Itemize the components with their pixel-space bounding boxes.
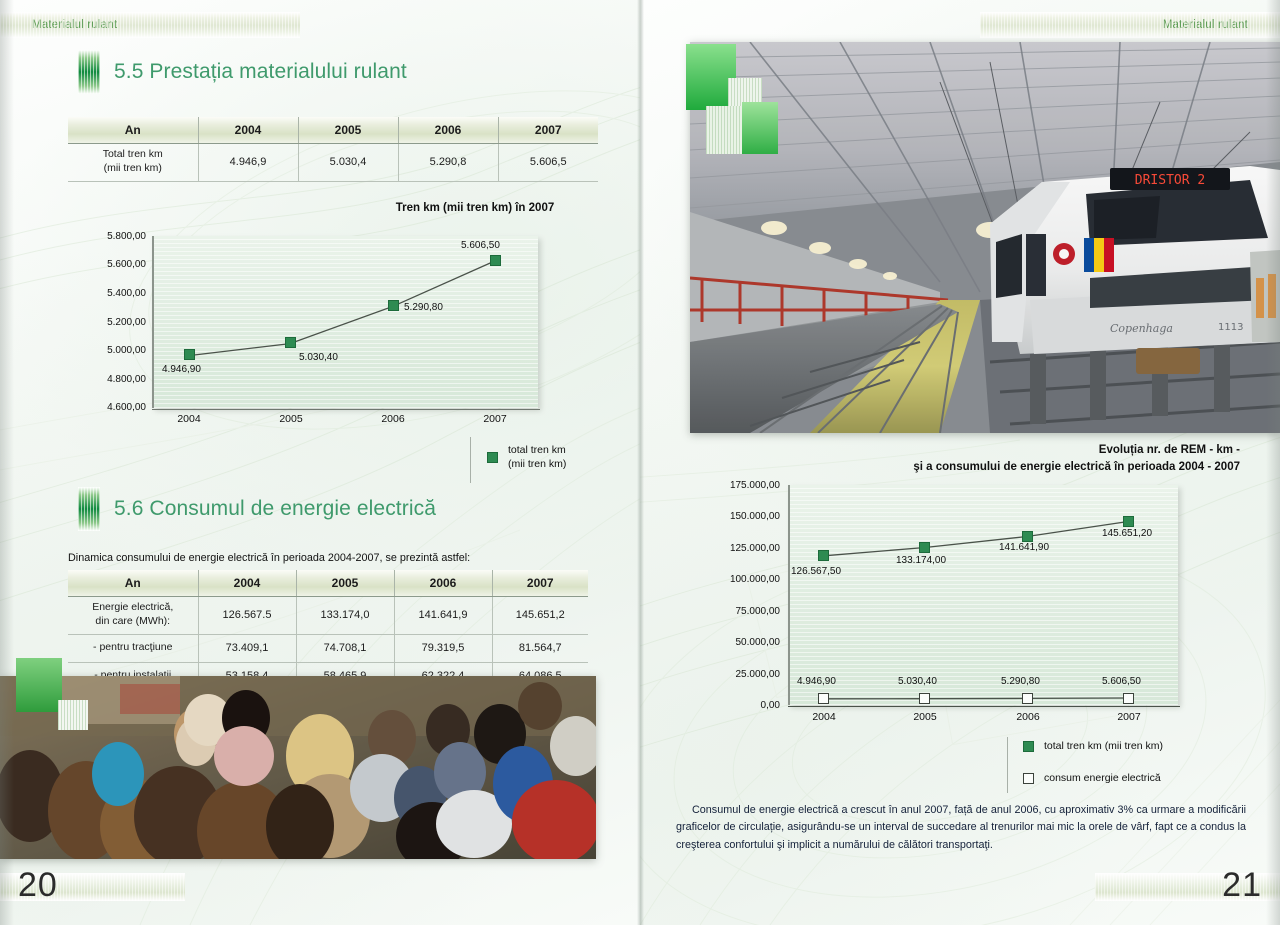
chart-rem-km-trenkm-datalabel-2007: 5.606,50 bbox=[1102, 676, 1141, 687]
ytick-5800: 5.800,00 bbox=[80, 231, 146, 242]
cell-row-label-line2: (mii tren km) bbox=[68, 162, 198, 176]
chart-rem-km-x-axis bbox=[788, 706, 1180, 707]
page-number-left: 20 bbox=[18, 866, 58, 905]
cell-2005: 5.030,4 bbox=[298, 143, 398, 181]
xtick-2005: 2005 bbox=[261, 413, 321, 425]
chart-tren-km-datalabel-2007: 5.606,50 bbox=[461, 240, 500, 251]
cell-row-label-line1: Energie electrică, bbox=[68, 601, 198, 615]
chart-rem-km-trenkm-datalabel-2004: 4.946,90 bbox=[797, 676, 836, 687]
xtick-2007: 2007 bbox=[465, 413, 525, 425]
chart-tren-km-x-axis bbox=[152, 409, 540, 410]
spread-gutter bbox=[637, 0, 644, 925]
cell-2004: 73.409,1 bbox=[198, 634, 296, 662]
chart-rem-km-trenkm-marker-2005 bbox=[919, 693, 930, 704]
cell-2007: 5.606,5 bbox=[498, 143, 598, 181]
chart-rem-km-energy-marker-2004 bbox=[818, 550, 829, 561]
ytick-4600: 4.600,00 bbox=[80, 402, 146, 413]
ytick-5200: 5.200,00 bbox=[80, 317, 146, 328]
section-heading-56: 5.6 Consumul de energie electrică bbox=[78, 487, 436, 531]
table-row: - pentru tracţiune 73.409,1 74.708,1 79.… bbox=[68, 634, 588, 662]
chart-rem-km-energy-datalabel-2006: 141.641,90 bbox=[999, 542, 1049, 553]
chart-rem-km-energy-datalabel-2007: 145.651,20 bbox=[1102, 528, 1152, 539]
cell-row-label-line1: Total tren km bbox=[68, 148, 198, 162]
chart-rem-km-title-line2: şi a consumului de energie electrică în … bbox=[900, 459, 1240, 476]
page-left: Materialul rulant 5.5 Prestația material… bbox=[0, 0, 640, 925]
xtick-2007: 2007 bbox=[1099, 711, 1159, 723]
ytick-50000: 50.000,00 bbox=[696, 637, 780, 648]
ytick-5400: 5.400,00 bbox=[80, 288, 146, 299]
cell-2005: 74.708,1 bbox=[296, 634, 394, 662]
chart-tren-km-datalabel-2004: 4.946,90 bbox=[162, 364, 201, 375]
chart-rem-km-energy-marker-2007 bbox=[1123, 516, 1134, 527]
page-edge-shadow-left bbox=[0, 0, 14, 925]
table-tren-km-head: An 2004 2005 2006 2007 bbox=[68, 117, 598, 143]
running-head-right: Materialul rulant bbox=[980, 12, 1280, 38]
table-row-header: An 2004 2005 2006 2007 bbox=[68, 117, 598, 143]
xtick-2006: 2006 bbox=[363, 413, 423, 425]
cell-row-label: Total tren km (mii tren km) bbox=[68, 143, 198, 181]
chart-rem-km-energy-datalabel-2005: 133.174,00 bbox=[896, 555, 946, 566]
th-an: An bbox=[68, 570, 198, 596]
cell-2004: 4.946,9 bbox=[198, 143, 298, 181]
chart-rem-km-legend: total tren km (mii tren km) consum energ… bbox=[1023, 740, 1163, 797]
xtick-2006: 2006 bbox=[998, 711, 1058, 723]
ytick-125000: 125.000,00 bbox=[696, 543, 780, 554]
ytick-100000: 100.000,00 bbox=[696, 574, 780, 585]
legend-swatch-green-icon bbox=[487, 452, 498, 463]
ytick-75000: 75.000,00 bbox=[696, 606, 780, 617]
legend-item-consum-energie: consum energie electrică bbox=[1023, 772, 1163, 786]
ytick-150000: 150.000,00 bbox=[696, 511, 780, 522]
ytick-5000: 5.000,00 bbox=[80, 345, 146, 356]
page-right: Materialul rulant bbox=[640, 0, 1280, 925]
decorative-green-squares-right bbox=[686, 44, 796, 156]
section-heading-56-text: 5.6 Consumul de energie electrică bbox=[114, 497, 436, 521]
legend-item-total-tren-km-label: total tren km (mii tren km) bbox=[1044, 740, 1163, 754]
cell-2007: 81.564,7 bbox=[492, 634, 588, 662]
chart-rem-km-legend-divider bbox=[1007, 737, 1008, 793]
section-heading-55: 5.5 Prestația materialului rulant bbox=[78, 50, 407, 94]
chart-rem-km-trenkm-marker-2006 bbox=[1022, 693, 1033, 704]
legend-swatch-white-icon bbox=[1023, 773, 1034, 784]
body-paragraph-text: Consumul de energie electrică a crescut … bbox=[676, 804, 1246, 851]
chart-tren-km-marker-2007 bbox=[490, 255, 501, 266]
body-paragraph: Consumul de energie electrică a crescut … bbox=[676, 802, 1246, 854]
running-head-left-text: Materialul rulant bbox=[32, 19, 117, 31]
xtick-2005: 2005 bbox=[895, 711, 955, 723]
legend-label-line2: (mii tren km) bbox=[508, 458, 566, 470]
chart-tren-km-marker-2004 bbox=[184, 349, 195, 360]
th-2006: 2006 bbox=[398, 117, 498, 143]
th-an: An bbox=[68, 117, 198, 143]
chart-rem-km-trenkm-datalabel-2005: 5.030,40 bbox=[898, 676, 937, 687]
table-energie-electrica: An 2004 2005 2006 2007 Energie electrică… bbox=[68, 570, 588, 691]
cell-2004: 126.567.5 bbox=[198, 596, 296, 634]
chart-rem-km-energy-marker-2005 bbox=[919, 542, 930, 553]
chart-tren-km-legend-divider bbox=[470, 437, 471, 483]
decorative-green-squares-left bbox=[16, 658, 96, 730]
page-edge-shadow-right bbox=[1266, 0, 1280, 925]
cell-row-label: Energie electrică, din care (MWh): bbox=[68, 596, 198, 634]
th-2007: 2007 bbox=[492, 570, 588, 596]
ytick-4800: 4.800,00 bbox=[80, 374, 146, 385]
table-energie-head: An 2004 2005 2006 2007 bbox=[68, 570, 588, 596]
ytick-0: 0,00 bbox=[696, 700, 780, 711]
section-heading-55-text: 5.5 Prestația materialului rulant bbox=[114, 60, 407, 84]
chart-tren-km-datalabel-2005: 5.030,40 bbox=[299, 352, 338, 363]
magazine-spread: Materialul rulant 5.5 Prestația material… bbox=[0, 0, 1280, 925]
table-tren-km: An 2004 2005 2006 2007 Total tren km (mi… bbox=[68, 117, 598, 182]
chart-rem-km-trenkm-marker-2007 bbox=[1123, 693, 1134, 704]
table-row-header: An 2004 2005 2006 2007 bbox=[68, 570, 588, 596]
chart-rem-km-title-line1: Evoluția nr. de REM - km - bbox=[900, 442, 1240, 459]
chart-rem-km-trenkm-marker-2004 bbox=[818, 693, 829, 704]
running-head-left: Materialul rulant bbox=[0, 12, 300, 38]
cell-row-label-line2: din care (MWh): bbox=[68, 615, 198, 629]
chart-tren-km-marker-2006 bbox=[388, 300, 399, 311]
table-row: Total tren km (mii tren km) 4.946,9 5.03… bbox=[68, 143, 598, 181]
chart-rem-km-energy-datalabel-2004: 126.567,50 bbox=[791, 566, 841, 577]
th-2006: 2006 bbox=[394, 570, 492, 596]
chart-tren-km-marker-2005 bbox=[285, 337, 296, 348]
legend-item-consum-energie-label: consum energie electrică bbox=[1044, 772, 1161, 786]
cell-2006: 79.319,5 bbox=[394, 634, 492, 662]
th-2004: 2004 bbox=[198, 117, 298, 143]
th-2007: 2007 bbox=[498, 117, 598, 143]
ytick-175000: 175.000,00 bbox=[696, 480, 780, 491]
chart-tren-km-title: Tren km (mii tren km) în 2007 bbox=[330, 200, 620, 217]
th-2004: 2004 bbox=[198, 570, 296, 596]
legend-item-total-tren-km-label: total tren km (mii tren km) bbox=[508, 444, 566, 471]
chart-tren-km-legend: total tren km (mii tren km) bbox=[487, 444, 566, 483]
page-number-right: 21 bbox=[1222, 866, 1262, 905]
section-56-intro-text: Dinamica consumului de energie electrică… bbox=[68, 552, 470, 564]
th-2005: 2005 bbox=[298, 117, 398, 143]
chart-rem-km-trenkm-datalabel-2006: 5.290,80 bbox=[1001, 676, 1040, 687]
cell-2005: 133.174,0 bbox=[296, 596, 394, 634]
legend-label-line1: total tren km bbox=[508, 444, 566, 456]
heading-accent-bar-icon bbox=[78, 487, 100, 531]
table-row: Energie electrică, din care (MWh): 126.5… bbox=[68, 596, 588, 634]
ytick-5600: 5.600,00 bbox=[80, 259, 146, 270]
table-tren-km-body: Total tren km (mii tren km) 4.946,9 5.03… bbox=[68, 143, 598, 181]
legend-swatch-green-icon bbox=[1023, 741, 1034, 752]
cell-2006: 5.290,8 bbox=[398, 143, 498, 181]
cell-2007: 145.651,2 bbox=[492, 596, 588, 634]
cell-2006: 141.641,9 bbox=[394, 596, 492, 634]
chart-tren-km-datalabel-2006: 5.290,80 bbox=[404, 302, 443, 313]
th-2005: 2005 bbox=[296, 570, 394, 596]
xtick-2004: 2004 bbox=[159, 413, 219, 425]
chart-tren-km-series-line bbox=[152, 236, 538, 408]
legend-item-total-tren-km: total tren km (mii tren km) bbox=[1023, 740, 1163, 754]
xtick-2004: 2004 bbox=[794, 711, 854, 723]
chart-rem-km-energy-marker-2006 bbox=[1022, 531, 1033, 542]
heading-accent-bar-icon bbox=[78, 50, 100, 94]
chart-rem-km-title: Evoluția nr. de REM - km - şi a consumul… bbox=[900, 442, 1240, 475]
running-head-right-text: Materialul rulant bbox=[1163, 19, 1248, 31]
legend-item-total-tren-km: total tren km (mii tren km) bbox=[487, 444, 566, 471]
ytick-25000: 25.000,00 bbox=[696, 669, 780, 680]
